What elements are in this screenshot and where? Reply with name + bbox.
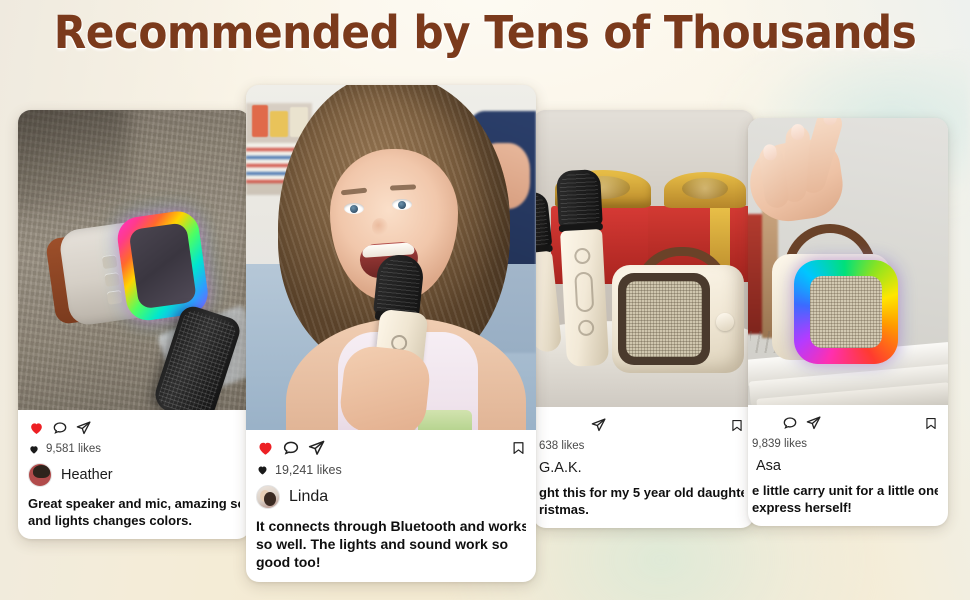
avatar xyxy=(28,463,52,487)
review-photo xyxy=(533,110,754,407)
bookmark-icon[interactable] xyxy=(511,439,526,457)
heart-icon[interactable] xyxy=(256,439,275,457)
username: G.A.K. xyxy=(539,460,582,476)
action-icon-row xyxy=(543,415,744,435)
username: Heather xyxy=(61,467,113,483)
likes-row: 9,581 likes xyxy=(28,443,240,455)
action-icon-row xyxy=(28,418,240,438)
heart-icon[interactable] xyxy=(28,420,45,436)
comment-icon[interactable] xyxy=(282,439,300,457)
action-icon-row xyxy=(256,438,526,458)
user-row[interactable]: Heather xyxy=(28,463,240,487)
review-comment: ght this for my 5 year old daughter rist… xyxy=(539,485,744,518)
review-photo xyxy=(246,85,536,430)
likes-count: 9,581 likes xyxy=(46,443,101,455)
share-icon[interactable] xyxy=(590,417,607,433)
likes-heart-icon xyxy=(28,444,40,455)
likes-row: 638 likes xyxy=(539,440,744,452)
review-comment: Great speaker and mic, amazing sound and… xyxy=(28,496,240,529)
review-photo xyxy=(18,110,250,410)
comment-icon[interactable] xyxy=(52,420,68,436)
avatar xyxy=(256,485,280,509)
share-icon[interactable] xyxy=(75,420,92,436)
likes-row: 9,839 likes xyxy=(752,438,938,450)
username: Asa xyxy=(756,458,781,474)
likes-count: 638 likes xyxy=(539,440,584,452)
review-card[interactable]: 9,581 likes Heather Great speaker and mi… xyxy=(18,110,250,539)
share-icon[interactable] xyxy=(307,439,326,457)
likes-row: 19,241 likes xyxy=(256,463,526,477)
review-photo xyxy=(748,118,948,405)
bookmark-icon[interactable] xyxy=(730,417,744,434)
user-row[interactable]: G.A.K. xyxy=(539,460,744,476)
user-row[interactable]: Linda xyxy=(256,485,526,509)
page-title: Recommended by Tens of Thousands xyxy=(29,8,941,58)
action-icon-row xyxy=(758,413,938,433)
username: Linda xyxy=(289,488,328,506)
review-card[interactable]: 9,839 likes Asa e little carry unit for … xyxy=(748,118,948,526)
comment-icon[interactable] xyxy=(782,415,798,431)
user-row[interactable]: Asa xyxy=(756,458,938,474)
likes-count: 9,839 likes xyxy=(752,438,807,450)
bookmark-icon[interactable] xyxy=(924,415,938,432)
review-comment: e little carry unit for a little one to … xyxy=(752,483,938,516)
share-icon[interactable] xyxy=(805,415,822,431)
review-card[interactable]: 19,241 likes Linda It connects through B… xyxy=(246,85,536,582)
likes-count: 19,241 likes xyxy=(275,463,342,477)
review-comment: It connects through Bluetooth and works … xyxy=(256,518,526,572)
likes-heart-icon xyxy=(256,464,269,476)
review-card[interactable]: 638 likes G.A.K. ght this for my 5 year … xyxy=(533,110,754,528)
